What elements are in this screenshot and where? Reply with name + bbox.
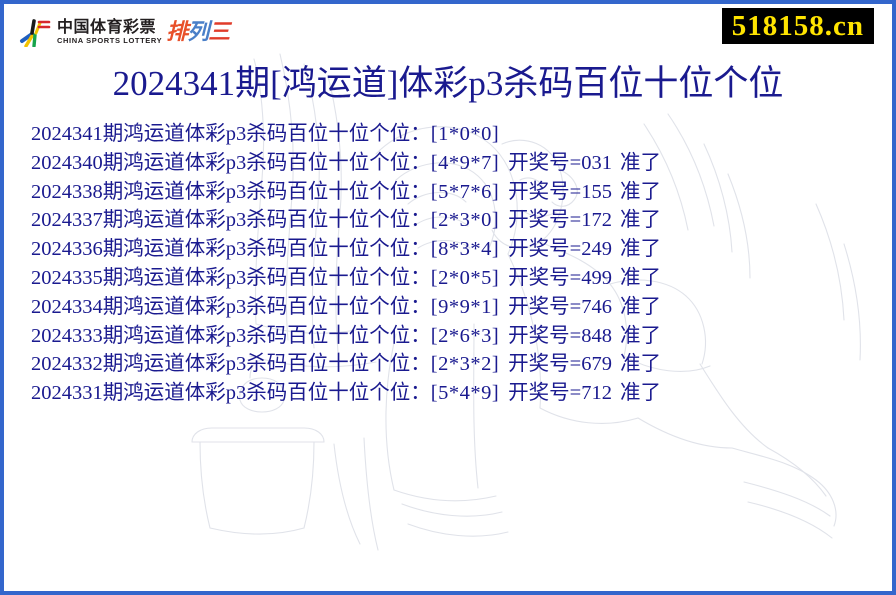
row-period: 2024338 <box>31 181 103 203</box>
row-draw-number: 开奖号=712 <box>508 382 612 404</box>
page-frame: 中国体育彩票 CHINA SPORTS LOTTERY 排列三 518158.c… <box>0 0 896 595</box>
row-period: 2024337 <box>31 209 103 231</box>
row-label: 期鸿运道体彩p3杀码百位十位个位： <box>103 325 431 347</box>
row-kill-codes: [1*0*0] <box>431 123 499 145</box>
row-verdict: 准了 <box>620 181 661 203</box>
row-kill-codes: [2*0*5] <box>431 267 499 289</box>
list-item: 2024331期鸿运道体彩p3杀码百位十位个位：[5*4*9]开奖号=712准了 <box>31 379 892 408</box>
list-item: 2024334期鸿运道体彩p3杀码百位十位个位：[9*9*1]开奖号=746准了 <box>31 293 892 322</box>
row-label: 期鸿运道体彩p3杀码百位十位个位： <box>103 123 431 145</box>
row-draw-number: 开奖号=746 <box>508 296 612 318</box>
row-verdict: 准了 <box>620 325 661 347</box>
row-kill-codes: [2*3*0] <box>431 209 499 231</box>
row-label: 期鸿运道体彩p3杀码百位十位个位： <box>103 382 431 404</box>
row-label: 期鸿运道体彩p3杀码百位十位个位： <box>103 267 431 289</box>
row-kill-codes: [8*3*4] <box>431 238 499 260</box>
brand-name-cn: 中国体育彩票 <box>57 19 162 36</box>
row-label: 期鸿运道体彩p3杀码百位十位个位： <box>103 353 431 375</box>
game-name-logo: 排列三 <box>166 17 229 47</box>
header-bar: 中国体育彩票 CHINA SPORTS LOTTERY 排列三 518158.c… <box>4 4 892 52</box>
brand-name-en: CHINA SPORTS LOTTERY <box>57 36 162 45</box>
row-kill-codes: [2*6*3] <box>431 325 499 347</box>
row-kill-codes: [5*7*6] <box>431 181 499 203</box>
row-verdict: 准了 <box>620 152 661 174</box>
list-item: 2024333期鸿运道体彩p3杀码百位十位个位：[2*6*3]开奖号=848准了 <box>31 322 892 351</box>
row-period: 2024333 <box>31 325 103 347</box>
row-period: 2024331 <box>31 382 103 404</box>
site-watermark: 518158.cn <box>722 8 874 44</box>
row-draw-number: 开奖号=031 <box>508 152 612 174</box>
row-label: 期鸿运道体彩p3杀码百位十位个位： <box>103 181 431 203</box>
list-item: 2024335期鸿运道体彩p3杀码百位十位个位：[2*0*5]开奖号=499准了 <box>31 264 892 293</box>
row-period: 2024334 <box>31 296 103 318</box>
prediction-list: 2024341期鸿运道体彩p3杀码百位十位个位：[1*0*0] 2024340期… <box>4 120 892 408</box>
row-period: 2024340 <box>31 152 103 174</box>
list-item: 2024340期鸿运道体彩p3杀码百位十位个位：[4*9*7]开奖号=031准了 <box>31 149 892 178</box>
row-period: 2024335 <box>31 267 103 289</box>
row-verdict: 准了 <box>620 267 661 289</box>
list-item: 2024332期鸿运道体彩p3杀码百位十位个位：[2*3*2]开奖号=679准了 <box>31 350 892 379</box>
list-item: 2024341期鸿运道体彩p3杀码百位十位个位：[1*0*0] <box>31 120 892 149</box>
list-item: 2024337期鸿运道体彩p3杀码百位十位个位：[2*3*0]开奖号=172准了 <box>31 206 892 235</box>
row-label: 期鸿运道体彩p3杀码百位十位个位： <box>103 296 431 318</box>
row-draw-number: 开奖号=249 <box>508 238 612 260</box>
list-item: 2024338期鸿运道体彩p3杀码百位十位个位：[5*7*6]开奖号=155准了 <box>31 178 892 207</box>
row-draw-number: 开奖号=848 <box>508 325 612 347</box>
row-verdict: 准了 <box>620 382 661 404</box>
brand-wordmark: 中国体育彩票 CHINA SPORTS LOTTERY <box>57 16 162 48</box>
row-period: 2024336 <box>31 238 103 260</box>
list-item: 2024336期鸿运道体彩p3杀码百位十位个位：[8*3*4]开奖号=249准了 <box>31 235 892 264</box>
row-draw-number: 开奖号=155 <box>508 181 612 203</box>
row-draw-number: 开奖号=172 <box>508 209 612 231</box>
row-label: 期鸿运道体彩p3杀码百位十位个位： <box>103 238 431 260</box>
row-kill-codes: [9*9*1] <box>431 296 499 318</box>
row-kill-codes: [2*3*2] <box>431 353 499 375</box>
row-draw-number: 开奖号=499 <box>508 267 612 289</box>
row-verdict: 准了 <box>620 238 661 260</box>
row-label: 期鸿运道体彩p3杀码百位十位个位： <box>103 152 431 174</box>
row-kill-codes: [4*9*7] <box>431 152 499 174</box>
row-draw-number: 开奖号=679 <box>508 353 612 375</box>
china-sports-lottery-emblem-icon <box>18 17 52 47</box>
row-period: 2024332 <box>31 353 103 375</box>
row-label: 期鸿运道体彩p3杀码百位十位个位： <box>103 209 431 231</box>
row-kill-codes: [5*4*9] <box>431 382 499 404</box>
row-verdict: 准了 <box>620 353 661 375</box>
brand-logo: 中国体育彩票 CHINA SPORTS LOTTERY 排列三 <box>18 14 229 50</box>
page-title: 2024341期[鸿运道]体彩p3杀码百位十位个位 <box>4 62 892 106</box>
row-verdict: 准了 <box>620 296 661 318</box>
row-period: 2024341 <box>31 123 103 145</box>
row-verdict: 准了 <box>620 209 661 231</box>
